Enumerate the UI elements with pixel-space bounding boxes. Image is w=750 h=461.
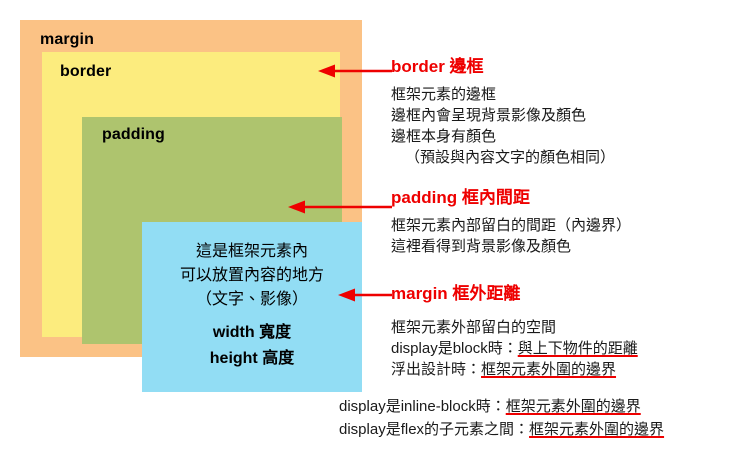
- border-annotation-body: 框架元素的邊框 邊框內會呈現背景影像及顏色 邊框本身有顏色 （預設與內容文字的顏…: [391, 78, 615, 168]
- annotation-line: （預設與內容文字的顏色相同）: [391, 147, 615, 168]
- margin-annotation-block: margin 框外距離 框架元素外部留白的空間 display是block時：與…: [391, 283, 638, 380]
- margin-annotation-heading: margin 框外距離: [391, 283, 638, 305]
- content-text-line: 可以放置內容的地方: [180, 264, 324, 288]
- annotation-line-underlined: 框架元素外圍的邊界: [529, 421, 664, 438]
- bottom-notes: display是inline-block時：框架元素外圍的邊界 display是…: [339, 395, 750, 441]
- annotation-line-prefix: 浮出設計時：: [391, 361, 481, 378]
- annotation-line: 框架元素的邊框: [391, 84, 615, 105]
- border-layer-label: border: [60, 64, 111, 80]
- margin-layer-label: margin: [40, 32, 94, 48]
- content-text-line: （文字、影像）: [196, 288, 308, 312]
- content-layer: 這是框架元素內 可以放置內容的地方 （文字、影像） width 寬度 heigh…: [142, 222, 362, 392]
- annotation-line-prefix: display是inline-block時：: [339, 398, 506, 415]
- padding-annotation-body: 框架元素內部留白的間距（內邊界） 這裡看得到背景影像及顏色: [391, 209, 631, 257]
- annotation-line-underlined: 框架元素外圍的邊界: [481, 361, 616, 378]
- annotation-line-prefix: display是flex的子元素之間：: [339, 421, 529, 438]
- content-width-label: width 寬度: [213, 320, 291, 346]
- annotation-line: 浮出設計時：框架元素外圍的邊界: [391, 359, 638, 380]
- annotation-line: 這裡看得到背景影像及顏色: [391, 236, 631, 257]
- border-layer: border padding 這是框架元素內 可以放置內容的地方 （文字、影像）…: [42, 52, 340, 337]
- content-text-line: 這是框架元素內: [196, 240, 308, 264]
- padding-annotation-block: padding 框內間距 框架元素內部留白的間距（內邊界） 這裡看得到背景影像及…: [391, 187, 631, 257]
- border-annotation-heading: border 邊框: [391, 56, 615, 78]
- border-annotation-block: border 邊框 框架元素的邊框 邊框內會呈現背景影像及顏色 邊框本身有顏色 …: [391, 56, 615, 168]
- annotation-line-underlined: 框架元素外圍的邊界: [506, 398, 641, 415]
- annotation-line: display是block時：與上下物件的距離: [391, 338, 638, 359]
- annotation-line: 邊框本身有顏色: [391, 126, 615, 147]
- box-model-diagram: margin border padding 這是框架元素內 可以放置內容的地方 …: [20, 20, 362, 357]
- padding-layer: padding 這是框架元素內 可以放置內容的地方 （文字、影像） width …: [82, 117, 342, 344]
- padding-annotation-heading: padding 框內間距: [391, 187, 631, 209]
- content-height-label: height 高度: [210, 346, 294, 372]
- annotation-line: 邊框內會呈現背景影像及顏色: [391, 105, 615, 126]
- annotation-line: 框架元素內部留白的間距（內邊界）: [391, 215, 631, 236]
- annotation-line-prefix: display是block時：: [391, 340, 518, 357]
- annotation-line-underlined: 與上下物件的距離: [518, 340, 638, 357]
- annotation-line: 框架元素外部留白的空間: [391, 317, 638, 338]
- padding-layer-label: padding: [102, 127, 165, 143]
- margin-annotation-body: 框架元素外部留白的空間 display是block時：與上下物件的距離 浮出設計…: [391, 305, 638, 380]
- annotation-line: display是inline-block時：框架元素外圍的邊界: [339, 395, 750, 418]
- annotation-line: display是flex的子元素之間：框架元素外圍的邊界: [339, 418, 750, 441]
- margin-layer: margin border padding 這是框架元素內 可以放置內容的地方 …: [20, 20, 362, 357]
